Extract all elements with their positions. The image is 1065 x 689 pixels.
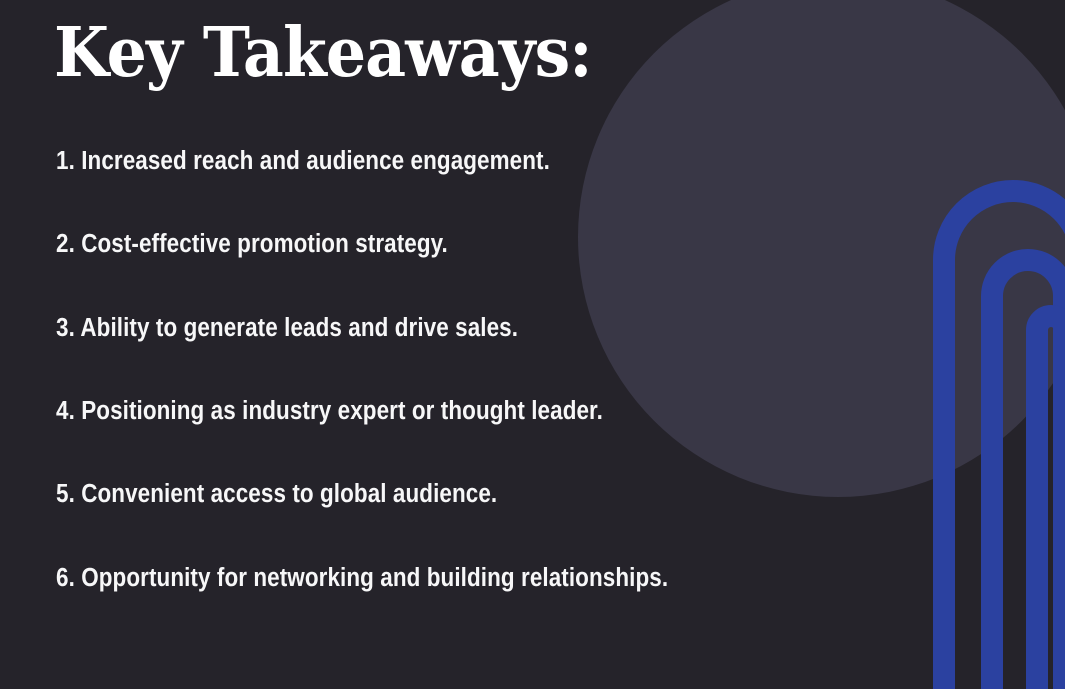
list-item: 4. Positioning as industry expert or tho… xyxy=(56,397,786,426)
list-item: 5. Convenient access to global audience. xyxy=(56,480,786,509)
list-item: 1. Increased reach and audience engageme… xyxy=(56,147,786,176)
slide-canvas: Key Takeaways: 1. Increased reach and au… xyxy=(0,0,1065,689)
list-item: 2. Cost-effective promotion strategy. xyxy=(56,230,786,259)
page-title: Key Takeaways: xyxy=(54,18,592,89)
list-item: 6. Opportunity for networking and buildi… xyxy=(56,564,786,593)
list-item: 3. Ability to generate leads and drive s… xyxy=(56,314,786,343)
takeaways-list: 1. Increased reach and audience engageme… xyxy=(56,147,886,593)
